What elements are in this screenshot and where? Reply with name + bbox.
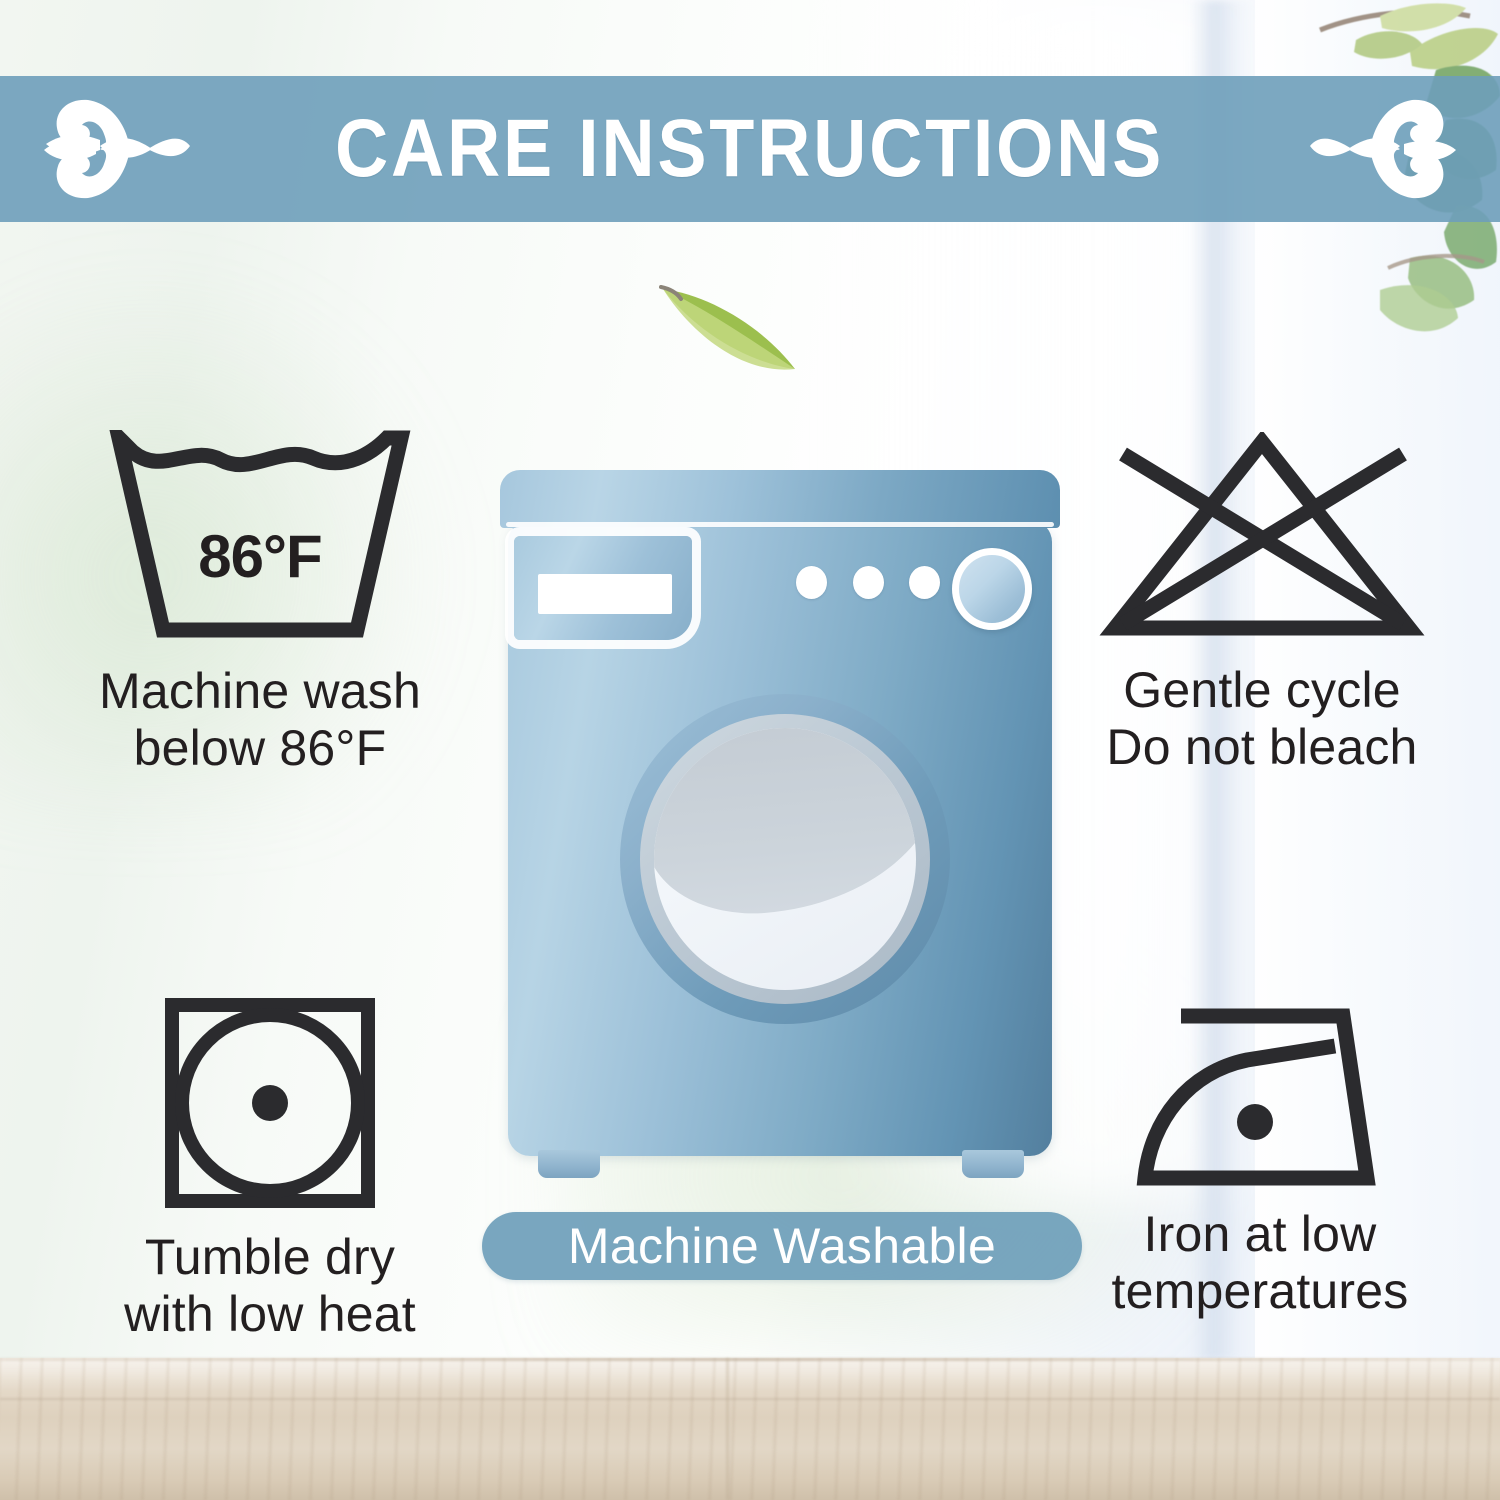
header-banner: CARE INSTRUCTIONS [0,76,1500,222]
washing-machine-illustration [500,470,1060,1190]
care-symbol-iron: Iron at low temperatures [1040,1000,1480,1320]
care-symbol-caption: Machine wash below 86°F [99,663,421,777]
washer-indicator-light [909,566,940,599]
page-title: CARE INSTRUCTIONS [335,108,1164,190]
wash-temperature-value: 86°F [105,522,415,591]
washer-indicator-lights [796,566,946,600]
washer-detergent-drawer [514,536,692,640]
care-symbol-machine-wash: 86°F Machine wash below 86°F [40,430,480,777]
washer-door-reflection [654,728,916,923]
no-bleach-triangle-icon [1097,432,1427,640]
iron-low-temp-icon [1129,1000,1391,1196]
washer-foot [538,1150,600,1178]
machine-washable-badge: Machine Washable [482,1212,1082,1280]
tumble-dry-low-icon [162,995,378,1211]
fleur-de-lis-icon [42,94,192,204]
leaf-icon [655,283,805,378]
washer-indicator-light [796,566,827,599]
wood-table-surface [0,1358,1500,1500]
wash-tub-icon: 86°F [105,430,415,645]
care-symbol-caption: Iron at low temperatures [1112,1206,1409,1320]
washer-lid-seam [506,522,1054,527]
care-symbol-caption: Tumble dry with low heat [124,1229,416,1343]
fleur-de-lis-icon [1308,94,1458,204]
washer-foot [962,1150,1024,1178]
washer-door-ring [640,714,930,1004]
washer-drawer-slot [538,574,672,614]
washer-program-knob [952,548,1032,630]
washer-top-lid [500,470,1060,528]
washer-door [620,694,950,1024]
wood-plank-joint [726,1358,729,1500]
washer-door-glass [654,728,916,990]
care-symbol-tumble-dry: Tumble dry with low heat [60,995,480,1343]
care-symbol-caption: Gentle cycle Do not bleach [1106,662,1417,776]
wood-edge-highlight [0,1358,1500,1361]
washer-indicator-light [853,566,884,599]
badge-label: Machine Washable [568,1221,996,1271]
wood-plank-seam [0,1398,1500,1400]
care-symbol-do-not-bleach: Gentle cycle Do not bleach [1042,432,1482,776]
care-instructions-infographic: CARE INSTRUCTIONS 86°F Machine wash belo… [0,0,1500,1500]
